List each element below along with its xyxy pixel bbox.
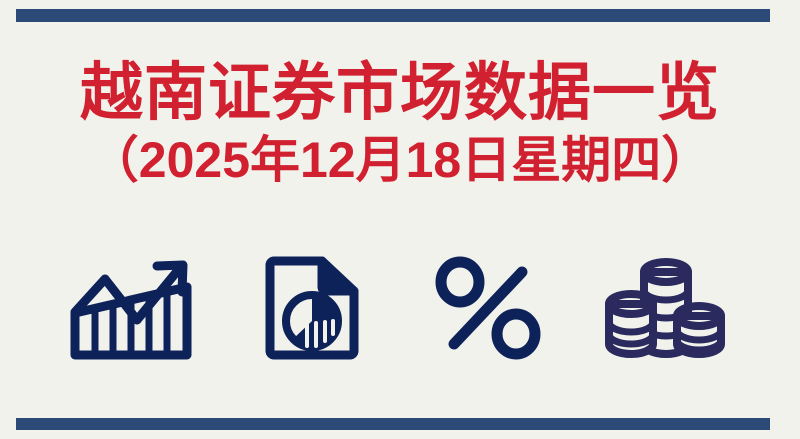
- page-subtitle-date: （2025年12月18日星期四）: [0, 130, 800, 190]
- bottom-divider: [16, 418, 770, 430]
- top-divider: [16, 9, 770, 22]
- poster-canvas: 越南证券市场数据一览 （2025年12月18日星期四）: [0, 0, 800, 439]
- page-title: 越南证券市场数据一览: [0, 56, 800, 130]
- icon-cell-growth-chart: [60, 248, 210, 368]
- growth-bar-chart-arrow-icon: [69, 256, 201, 360]
- icon-cell-report-document: [237, 248, 387, 368]
- icon-cell-percent: [413, 248, 563, 368]
- coin-stacks-icon: [604, 256, 726, 360]
- icon-cell-coin-stacks: [590, 248, 740, 368]
- percent-icon: [434, 256, 542, 360]
- document-pie-chart-icon: [264, 255, 360, 361]
- icon-row: [60, 248, 740, 368]
- heading-block: 越南证券市场数据一览 （2025年12月18日星期四）: [0, 56, 800, 190]
